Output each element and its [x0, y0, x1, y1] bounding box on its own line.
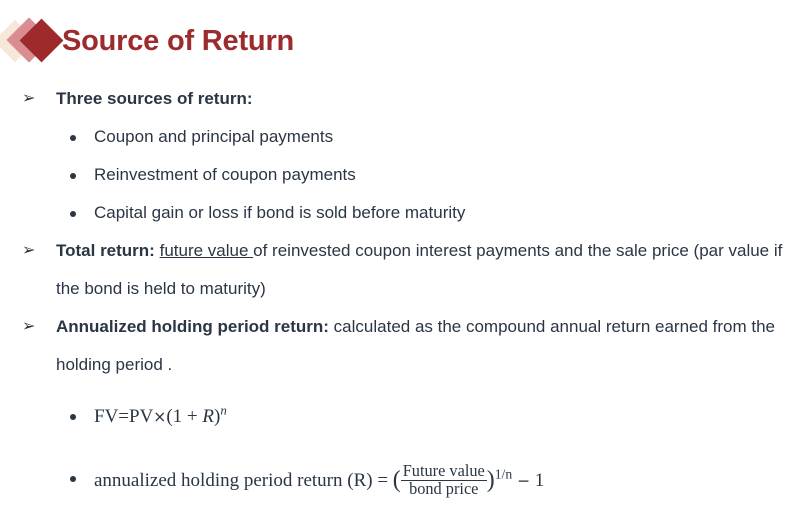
list-item: ➢ Total return: future value of reinvest… [0, 232, 802, 308]
triple-diamond-icon [0, 15, 62, 67]
formula-variable-r: R [202, 406, 214, 427]
list-item: Reinvestment of coupon payments [0, 156, 802, 194]
formula-close-paren: ) [487, 467, 495, 493]
page-title: Source of Return [62, 25, 294, 58]
round-bullet-icon [70, 135, 76, 141]
list-item-bold-lead: Annualized holding period return: [56, 317, 329, 336]
future-value-formula: FV=PV×(1 + R)n [94, 406, 227, 427]
slide-header: Source of Return [0, 14, 294, 68]
list-item-label: Reinvestment of coupon payments [94, 165, 356, 184]
list-item: Capital gain or loss if bond is sold bef… [0, 194, 802, 232]
fraction: Future valuebond price [401, 463, 487, 497]
round-bullet-icon [70, 414, 76, 420]
chevron-bullet-icon: ➢ [22, 232, 35, 270]
list-item: ➢ Annualized holding period return: calc… [0, 308, 802, 384]
slide-body: ➢ Three sources of return: Coupon and pr… [0, 80, 802, 500]
round-bullet-icon [70, 173, 76, 179]
list-item: Coupon and principal payments [0, 118, 802, 156]
list-item-formula-future-value: FV=PV×(1 + R)n [0, 398, 802, 436]
chevron-bullet-icon: ➢ [22, 308, 35, 346]
annualized-holding-period-return-formula: annualized holding period return (R) = (… [94, 470, 544, 491]
fraction-denominator: bond price [401, 481, 487, 498]
list-item-label: Coupon and principal payments [94, 127, 333, 146]
list-item-underlined-text: future value [160, 241, 254, 260]
slide-root: { "theme": { "title_color": "#9c2b2e", "… [0, 0, 802, 520]
formula-lhs: FV=PV [94, 406, 153, 427]
list-item-label: Capital gain or loss if bond is sold bef… [94, 203, 465, 222]
list-item-bold-lead: Total return: [56, 241, 155, 260]
round-bullet-icon [70, 211, 76, 217]
list-item-formula-annualized-return: annualized holding period return (R) = (… [0, 460, 802, 500]
list-item-label: Three sources of return: [56, 89, 253, 108]
formula-open-group: (1 + [166, 406, 202, 427]
formula-label: annualized holding period return (R) = [94, 470, 393, 491]
chevron-bullet-icon: ➢ [22, 80, 35, 118]
multiplication-sign: × [153, 408, 166, 426]
formula-exponent-n: n [220, 403, 226, 418]
list-item: ➢ Three sources of return: [0, 80, 802, 118]
formula-exponent-one-over-n: 1/n [495, 466, 512, 481]
formula-open-paren: ( [393, 467, 401, 493]
round-bullet-icon [70, 476, 76, 482]
minus-sign: − [517, 472, 530, 490]
formula-trailing-one: 1 [535, 470, 545, 491]
